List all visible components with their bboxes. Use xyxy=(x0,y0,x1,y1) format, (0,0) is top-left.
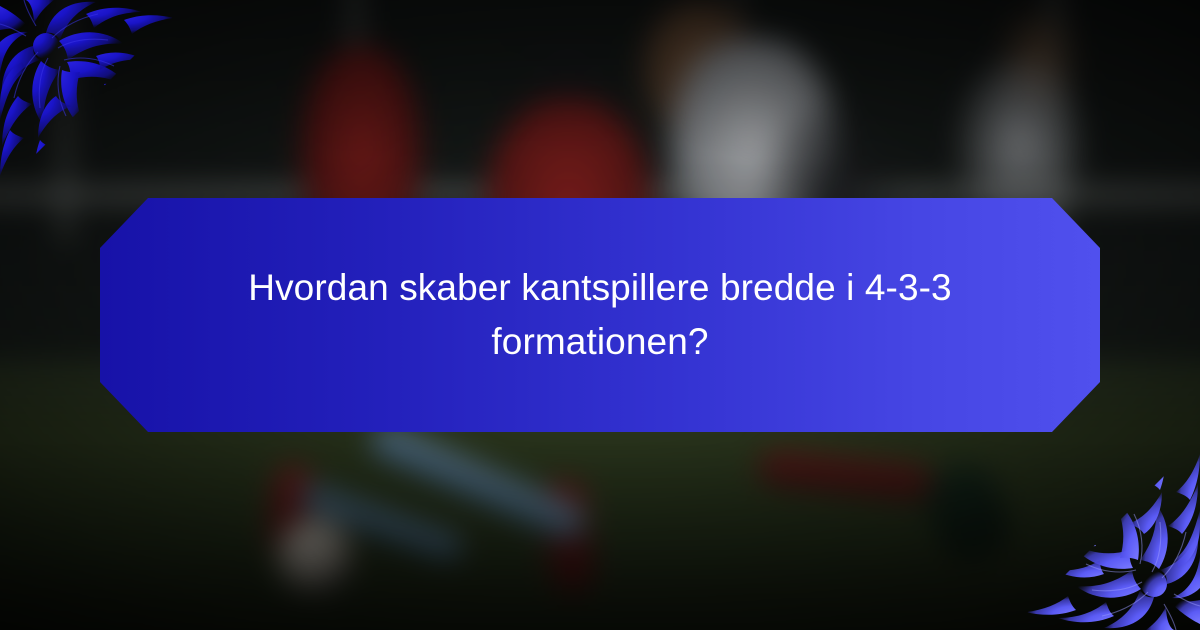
banner-title: Hvordan skaber kantspillere bredde i 4-3… xyxy=(100,261,1100,368)
social-card: Hvordan skaber kantspillere bredde i 4-3… xyxy=(0,0,1200,630)
headline-banner: Hvordan skaber kantspillere bredde i 4-3… xyxy=(100,198,1100,432)
